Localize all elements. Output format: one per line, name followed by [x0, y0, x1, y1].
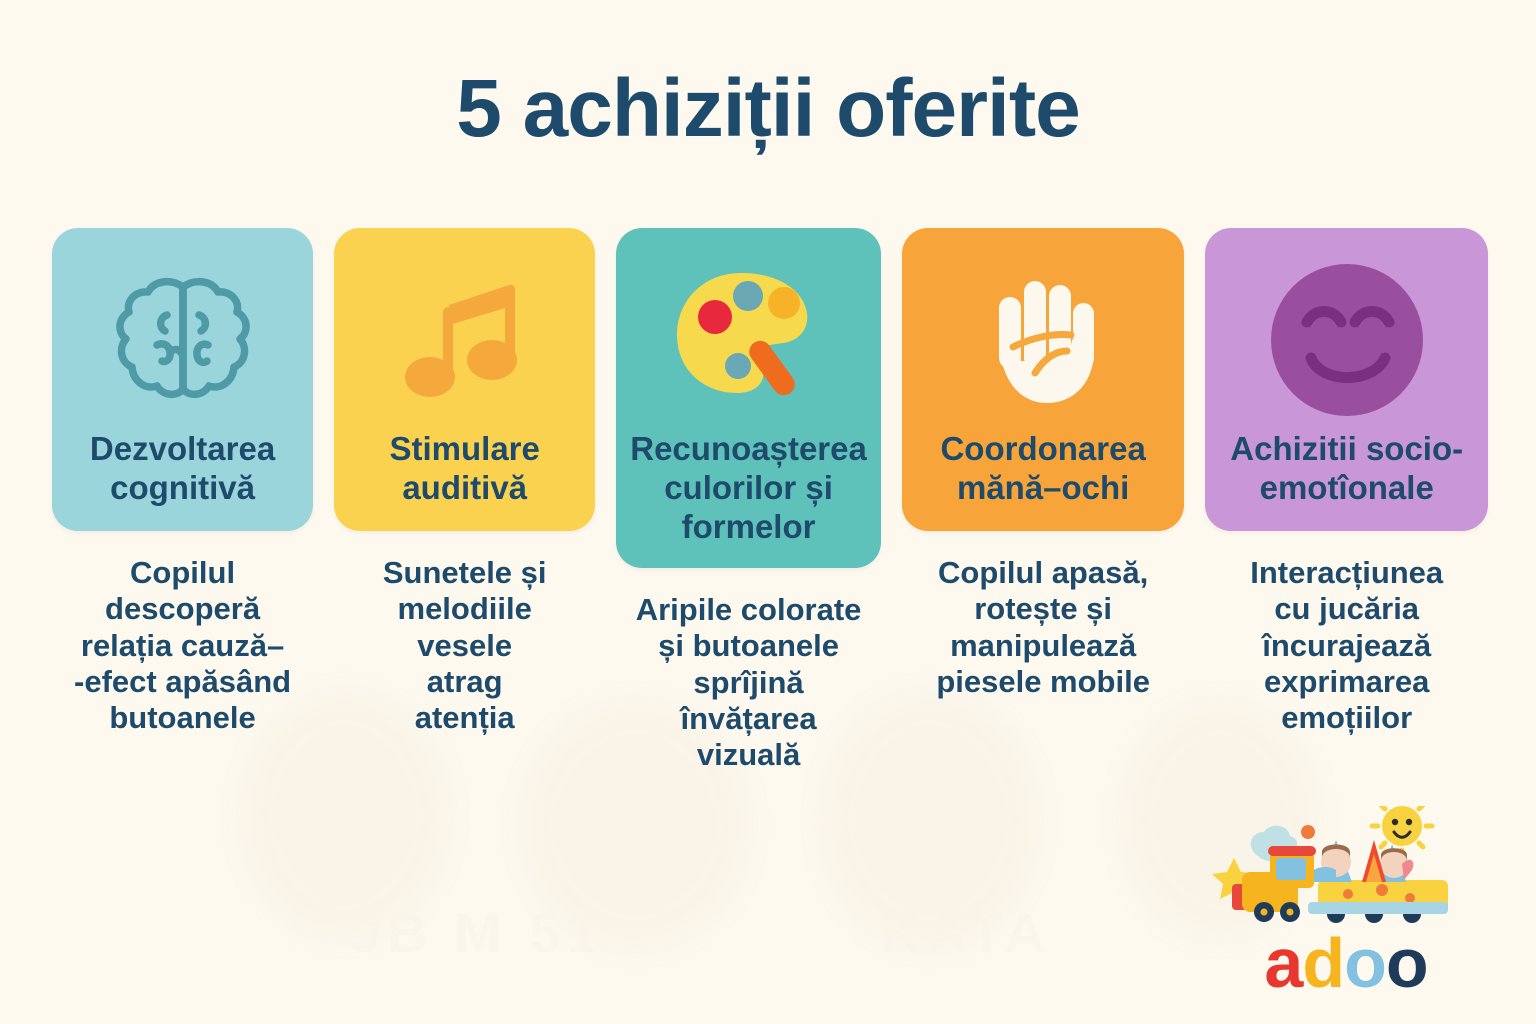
column-coordonarea-mana-ochi: Coordonarea mănă–ochi Copilul apasă, rot… — [902, 228, 1185, 700]
logo-letter-o2: o — [1386, 928, 1428, 998]
card-title-achizitii-socio-emotionale: Achizitii socio-emotîonale — [1215, 430, 1478, 508]
card-coordonarea-mana-ochi[interactable]: Coordonarea mănă–ochi — [902, 228, 1185, 531]
card-achizitii-socio-emotionale[interactable]: Achizitii socio-emotîonale — [1205, 228, 1488, 531]
brain-icon — [107, 256, 259, 424]
smiley-face-icon — [1267, 256, 1427, 424]
card-title-dezvoltarea-cognitiva: Dezvoltarea cognitivă — [62, 430, 303, 508]
card-recunoasterea-culorilor[interactable]: Recunoașterea culorilor și formelor — [616, 228, 881, 568]
logo-letter-o1: o — [1344, 928, 1386, 998]
hand-icon — [973, 256, 1113, 424]
column-dezvoltarea-cognitiva: Dezvoltarea cognitivă Copilul descoperă … — [52, 228, 313, 736]
card-stimulare-auditiva[interactable]: Stimulare auditivă — [334, 228, 595, 531]
card-caption-dezvoltarea-cognitiva: Copilul descoperă relația cauză– -efect … — [70, 555, 295, 736]
paint-palette-icon — [669, 256, 829, 424]
card-dezvoltarea-cognitiva[interactable]: Dezvoltarea cognitivă — [52, 228, 313, 531]
card-title-stimulare-auditiva: Stimulare auditivă — [344, 430, 585, 508]
column-stimulare-auditiva: Stimulare auditivă Sunetele și melodiile… — [334, 228, 595, 736]
cards-row: Dezvoltarea cognitivă Copilul descoperă … — [52, 228, 1488, 773]
page-title: 5 achiziții oferite — [0, 66, 1536, 152]
logo-wordmark: adoo — [1196, 928, 1496, 998]
logo-letter-d: d — [1302, 928, 1344, 998]
card-caption-achizitii-socio-emotionale: Interacțiunea cu jucăria încurajează exp… — [1246, 555, 1447, 736]
card-caption-stimulare-auditiva: Sunetele și melodiile vesele atrag atenț… — [379, 555, 551, 736]
logo-letter-a: a — [1264, 928, 1302, 998]
infographic-page: 5 achiziții oferite — [0, 0, 1536, 1024]
card-title-coordonarea-mana-ochi: Coordonarea mănă–ochi — [912, 430, 1175, 508]
card-caption-coordonarea-mana-ochi: Copilul apasă, rotește și manipulează pi… — [932, 555, 1154, 700]
column-recunoasterea-culorilor: Recunoașterea culorilor și formelor Arip… — [616, 228, 881, 773]
column-achizitii-socio-emotionale: Achizitii socio-emotîonale Interacțiunea… — [1205, 228, 1488, 736]
card-title-recunoasterea-culorilor: Recunoașterea culorilor și formelor — [626, 430, 871, 547]
music-note-icon — [405, 256, 525, 424]
brand-logo[interactable]: adoo — [1196, 806, 1496, 998]
card-caption-recunoasterea-culorilor: Aripile colorate și butoanele sprîjină î… — [632, 592, 866, 773]
